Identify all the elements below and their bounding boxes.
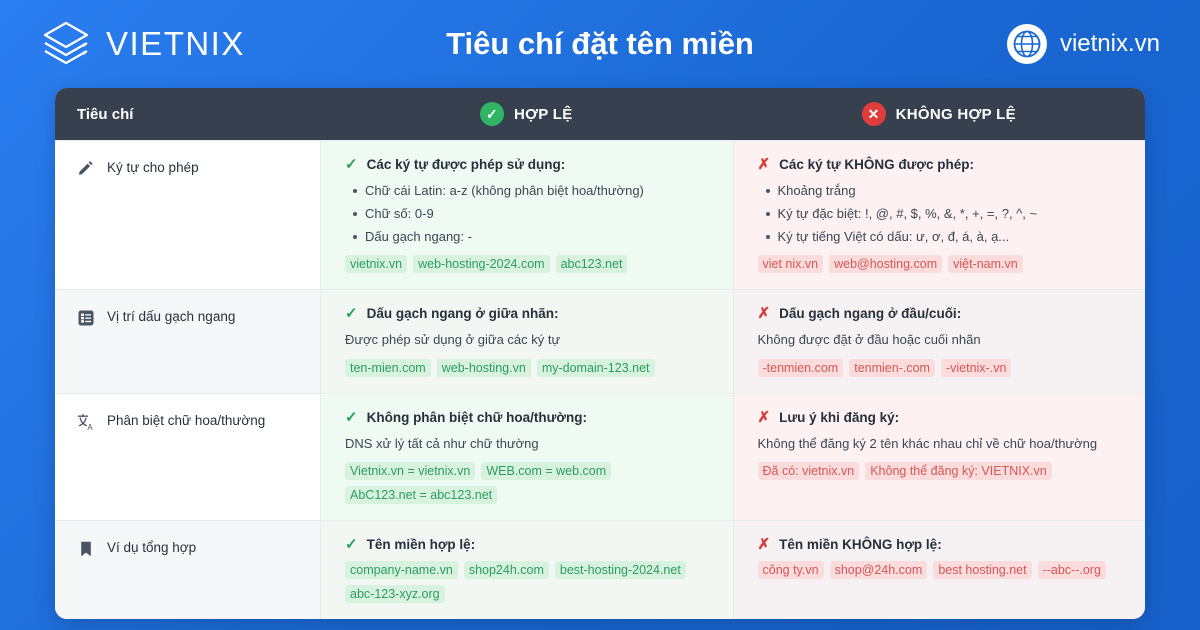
cross-mark-icon: ✗ bbox=[758, 410, 771, 425]
site-url-text: vietnix.vn bbox=[1060, 30, 1160, 58]
table-row: Ví dụ tổng hợp ✓ Tên miền hợp lệ: compan… bbox=[55, 520, 1145, 619]
valid-cell: ✓ Tên miền hợp lệ: company-name.vn shop2… bbox=[320, 521, 733, 619]
valid-cell: ✓ Dấu gạch ngang ở giữa nhãn: Được phép … bbox=[320, 290, 733, 393]
invalid-title: Các ký tự KHÔNG được phép: bbox=[779, 157, 974, 172]
table-row: Vị trí dấu gạch ngang ✓ Dấu gạch ngang ở… bbox=[55, 289, 1145, 393]
example-chip: ten-mien.com bbox=[345, 359, 431, 377]
criteria-table: Tiêu chí ✓ HỢP LỆ ✕ KHÔNG HỢP LỆ Ký tự c… bbox=[55, 88, 1145, 619]
brand-logo: VIETNIX bbox=[40, 18, 370, 70]
invalid-note: Không thể đăng ký 2 tên khác nhau chỉ về… bbox=[758, 434, 1124, 454]
bookmark-icon bbox=[77, 540, 95, 558]
example-chip: abc123.net bbox=[556, 255, 628, 273]
table-row: Ký tự cho phép ✓ Các ký tự được phép sử … bbox=[55, 140, 1145, 289]
x-circle-icon: ✕ bbox=[862, 102, 886, 126]
list-item: Dấu gạch ngang: - bbox=[351, 227, 711, 247]
criterion-cell: Ký tự cho phép bbox=[55, 141, 320, 289]
invalid-heading: ✗ Các ký tự KHÔNG được phép: bbox=[758, 157, 1124, 172]
invalid-examples: Đã có: vietnix.vn Không thể đăng ký: VIE… bbox=[758, 462, 1124, 480]
invalid-heading: ✗ Dấu gạch ngang ở đầu/cuối: bbox=[758, 306, 1124, 321]
header-invalid: ✕ KHÔNG HỢP LỆ bbox=[733, 102, 1146, 126]
example-chip: việt-nam.vn bbox=[948, 255, 1023, 273]
invalid-cell: ✗ Các ký tự KHÔNG được phép: Khoảng trắn… bbox=[733, 141, 1146, 289]
valid-heading: ✓ Tên miền hợp lệ: bbox=[345, 537, 711, 552]
valid-title: Tên miền hợp lệ: bbox=[367, 537, 476, 552]
example-chip: abc-123-xyz.org bbox=[345, 585, 445, 603]
valid-title: Dấu gạch ngang ở giữa nhãn: bbox=[367, 306, 559, 321]
list-item: Ký tự đặc biệt: !, @, #, $, %, &, *, +, … bbox=[764, 204, 1124, 224]
check-mark-icon: ✓ bbox=[345, 306, 358, 321]
translate-icon: A bbox=[77, 413, 95, 431]
example-chip: web@hosting.com bbox=[829, 255, 942, 273]
check-mark-icon: ✓ bbox=[345, 537, 358, 552]
stacked-layers-icon bbox=[40, 18, 92, 70]
example-chip: tenmien-.com bbox=[849, 359, 935, 377]
invalid-examples: viet nix.vn web@hosting.com việt-nam.vn bbox=[758, 255, 1124, 273]
criterion-label: Phân biệt chữ hoa/thường bbox=[107, 412, 265, 430]
table-row: A Phân biệt chữ hoa/thường ✓ Không phân … bbox=[55, 393, 1145, 521]
example-chip: AbC123.net = abc123.net bbox=[345, 486, 497, 504]
list-item: Khoảng trắng bbox=[764, 181, 1124, 201]
invalid-cell: ✗ Dấu gạch ngang ở đầu/cuối: Không được … bbox=[733, 290, 1146, 393]
example-chip: company-name.vn bbox=[345, 561, 458, 579]
pencil-icon bbox=[77, 160, 95, 178]
valid-note: DNS xử lý tất cả như chữ thường bbox=[345, 434, 711, 454]
valid-heading: ✓ Không phân biệt chữ hoa/thường: bbox=[345, 410, 711, 425]
invalid-heading: ✗ Tên miền KHÔNG hợp lệ: bbox=[758, 537, 1124, 552]
example-chip: Đã có: vietnix.vn bbox=[758, 462, 860, 480]
list-item: Ký tự tiếng Việt có dấu: ư, ơ, đ, á, à, … bbox=[764, 227, 1124, 247]
valid-title: Các ký tự được phép sử dụng: bbox=[367, 157, 566, 172]
example-chip: Không thể đăng ký: VIETNIX.vn bbox=[865, 462, 1052, 480]
example-chip: web-hosting.vn bbox=[437, 359, 531, 377]
criterion-label: Ví dụ tổng hợp bbox=[107, 539, 196, 557]
invalid-title: Lưu ý khi đăng ký: bbox=[779, 410, 899, 425]
invalid-cell: ✗ Lưu ý khi đăng ký: Không thể đăng ký 2… bbox=[733, 394, 1146, 521]
invalid-title: Tên miền KHÔNG hợp lệ: bbox=[779, 537, 942, 552]
header-valid-label: HỢP LỆ bbox=[514, 106, 573, 123]
site-url-group: vietnix.vn bbox=[1006, 23, 1160, 65]
criterion-label: Ký tự cho phép bbox=[107, 159, 199, 177]
example-chip: shop24h.com bbox=[464, 561, 549, 579]
svg-text:A: A bbox=[87, 423, 93, 431]
example-chip: Vietnix.vn = vietnix.vn bbox=[345, 462, 475, 480]
example-chip: shop@24h.com bbox=[830, 561, 928, 579]
header-criteria: Tiêu chí bbox=[55, 106, 320, 123]
page-banner: VIETNIX Tiêu chí đặt tên miền vietnix.vn bbox=[0, 0, 1200, 88]
valid-title: Không phân biệt chữ hoa/thường: bbox=[367, 410, 587, 425]
valid-bullets: Chữ cái Latin: a-z (không phân biệt hoa/… bbox=[351, 181, 711, 247]
check-circle-icon: ✓ bbox=[480, 102, 504, 126]
example-chip: -vietnix-.vn bbox=[941, 359, 1011, 377]
criterion-cell: Ví dụ tổng hợp bbox=[55, 521, 320, 619]
criterion-cell: A Phân biệt chữ hoa/thường bbox=[55, 394, 320, 521]
example-chip: vietnix.vn bbox=[345, 255, 407, 273]
example-chip: công ty.vn bbox=[758, 561, 824, 579]
example-chip: WEB.com = web.com bbox=[481, 462, 611, 480]
list-table-icon bbox=[77, 309, 95, 327]
header-valid: ✓ HỢP LỆ bbox=[320, 102, 733, 126]
valid-cell: ✓ Các ký tự được phép sử dụng: Chữ cái L… bbox=[320, 141, 733, 289]
invalid-title: Dấu gạch ngang ở đầu/cuối: bbox=[779, 306, 961, 321]
example-chip: best-hosting-2024.net bbox=[555, 561, 686, 579]
valid-heading: ✓ Các ký tự được phép sử dụng: bbox=[345, 157, 711, 172]
globe-icon bbox=[1006, 23, 1048, 65]
cross-mark-icon: ✗ bbox=[758, 537, 771, 552]
invalid-bullets: Khoảng trắng Ký tự đặc biệt: !, @, #, $,… bbox=[764, 181, 1124, 247]
cross-mark-icon: ✗ bbox=[758, 306, 771, 321]
valid-heading: ✓ Dấu gạch ngang ở giữa nhãn: bbox=[345, 306, 711, 321]
example-chip: my-domain-123.net bbox=[537, 359, 655, 377]
example-chip: best hosting.net bbox=[933, 561, 1031, 579]
brand-name: VIETNIX bbox=[106, 25, 245, 63]
criterion-label: Vị trí dấu gạch ngang bbox=[107, 308, 235, 326]
invalid-heading: ✗ Lưu ý khi đăng ký: bbox=[758, 410, 1124, 425]
invalid-examples: công ty.vn shop@24h.com best hosting.net… bbox=[758, 561, 1124, 579]
list-item: Chữ cái Latin: a-z (không phân biệt hoa/… bbox=[351, 181, 711, 201]
criterion-cell: Vị trí dấu gạch ngang bbox=[55, 290, 320, 393]
valid-examples: company-name.vn shop24h.com best-hosting… bbox=[345, 561, 711, 603]
list-item: Chữ số: 0-9 bbox=[351, 204, 711, 224]
example-chip: web-hosting-2024.com bbox=[413, 255, 549, 273]
header-invalid-label: KHÔNG HỢP LỆ bbox=[896, 106, 1016, 123]
check-mark-icon: ✓ bbox=[345, 157, 358, 172]
valid-examples: Vietnix.vn = vietnix.vn WEB.com = web.co… bbox=[345, 462, 711, 504]
check-mark-icon: ✓ bbox=[345, 410, 358, 425]
example-chip: -tenmien.com bbox=[758, 359, 844, 377]
valid-cell: ✓ Không phân biệt chữ hoa/thường: DNS xử… bbox=[320, 394, 733, 521]
invalid-cell: ✗ Tên miền KHÔNG hợp lệ: công ty.vn shop… bbox=[733, 521, 1146, 619]
valid-examples: ten-mien.com web-hosting.vn my-domain-12… bbox=[345, 359, 711, 377]
table-header-row: Tiêu chí ✓ HỢP LỆ ✕ KHÔNG HỢP LỆ bbox=[55, 88, 1145, 140]
invalid-note: Không được đặt ở đầu hoặc cuối nhãn bbox=[758, 330, 1124, 350]
invalid-examples: -tenmien.com tenmien-.com -vietnix-.vn bbox=[758, 359, 1124, 377]
example-chip: viet nix.vn bbox=[758, 255, 824, 273]
cross-mark-icon: ✗ bbox=[758, 157, 771, 172]
valid-note: Được phép sử dụng ở giữa các ký tự bbox=[345, 330, 711, 350]
valid-examples: vietnix.vn web-hosting-2024.com abc123.n… bbox=[345, 255, 711, 273]
example-chip: --abc--.org bbox=[1038, 561, 1106, 579]
